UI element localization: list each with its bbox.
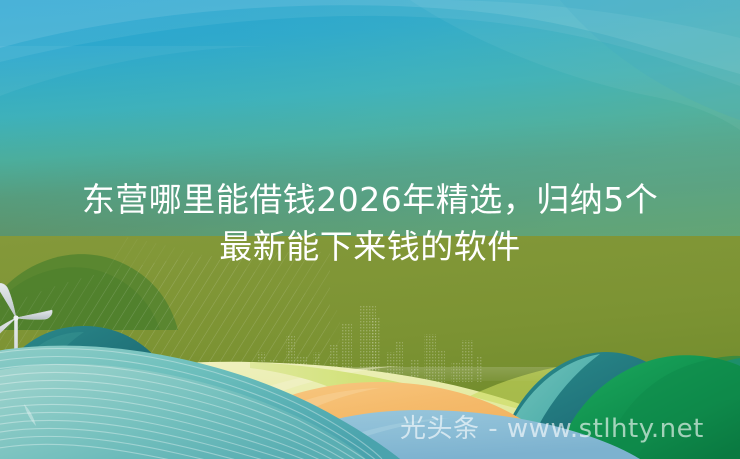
poster-canvas: 东营哪里能借钱2026年精选，归纳5个 最新能下来钱的软件 光头条 - www.… bbox=[0, 0, 740, 459]
site-watermark: 光头条 - www.stlhty.net bbox=[400, 412, 704, 446]
background-artwork bbox=[0, 0, 740, 459]
